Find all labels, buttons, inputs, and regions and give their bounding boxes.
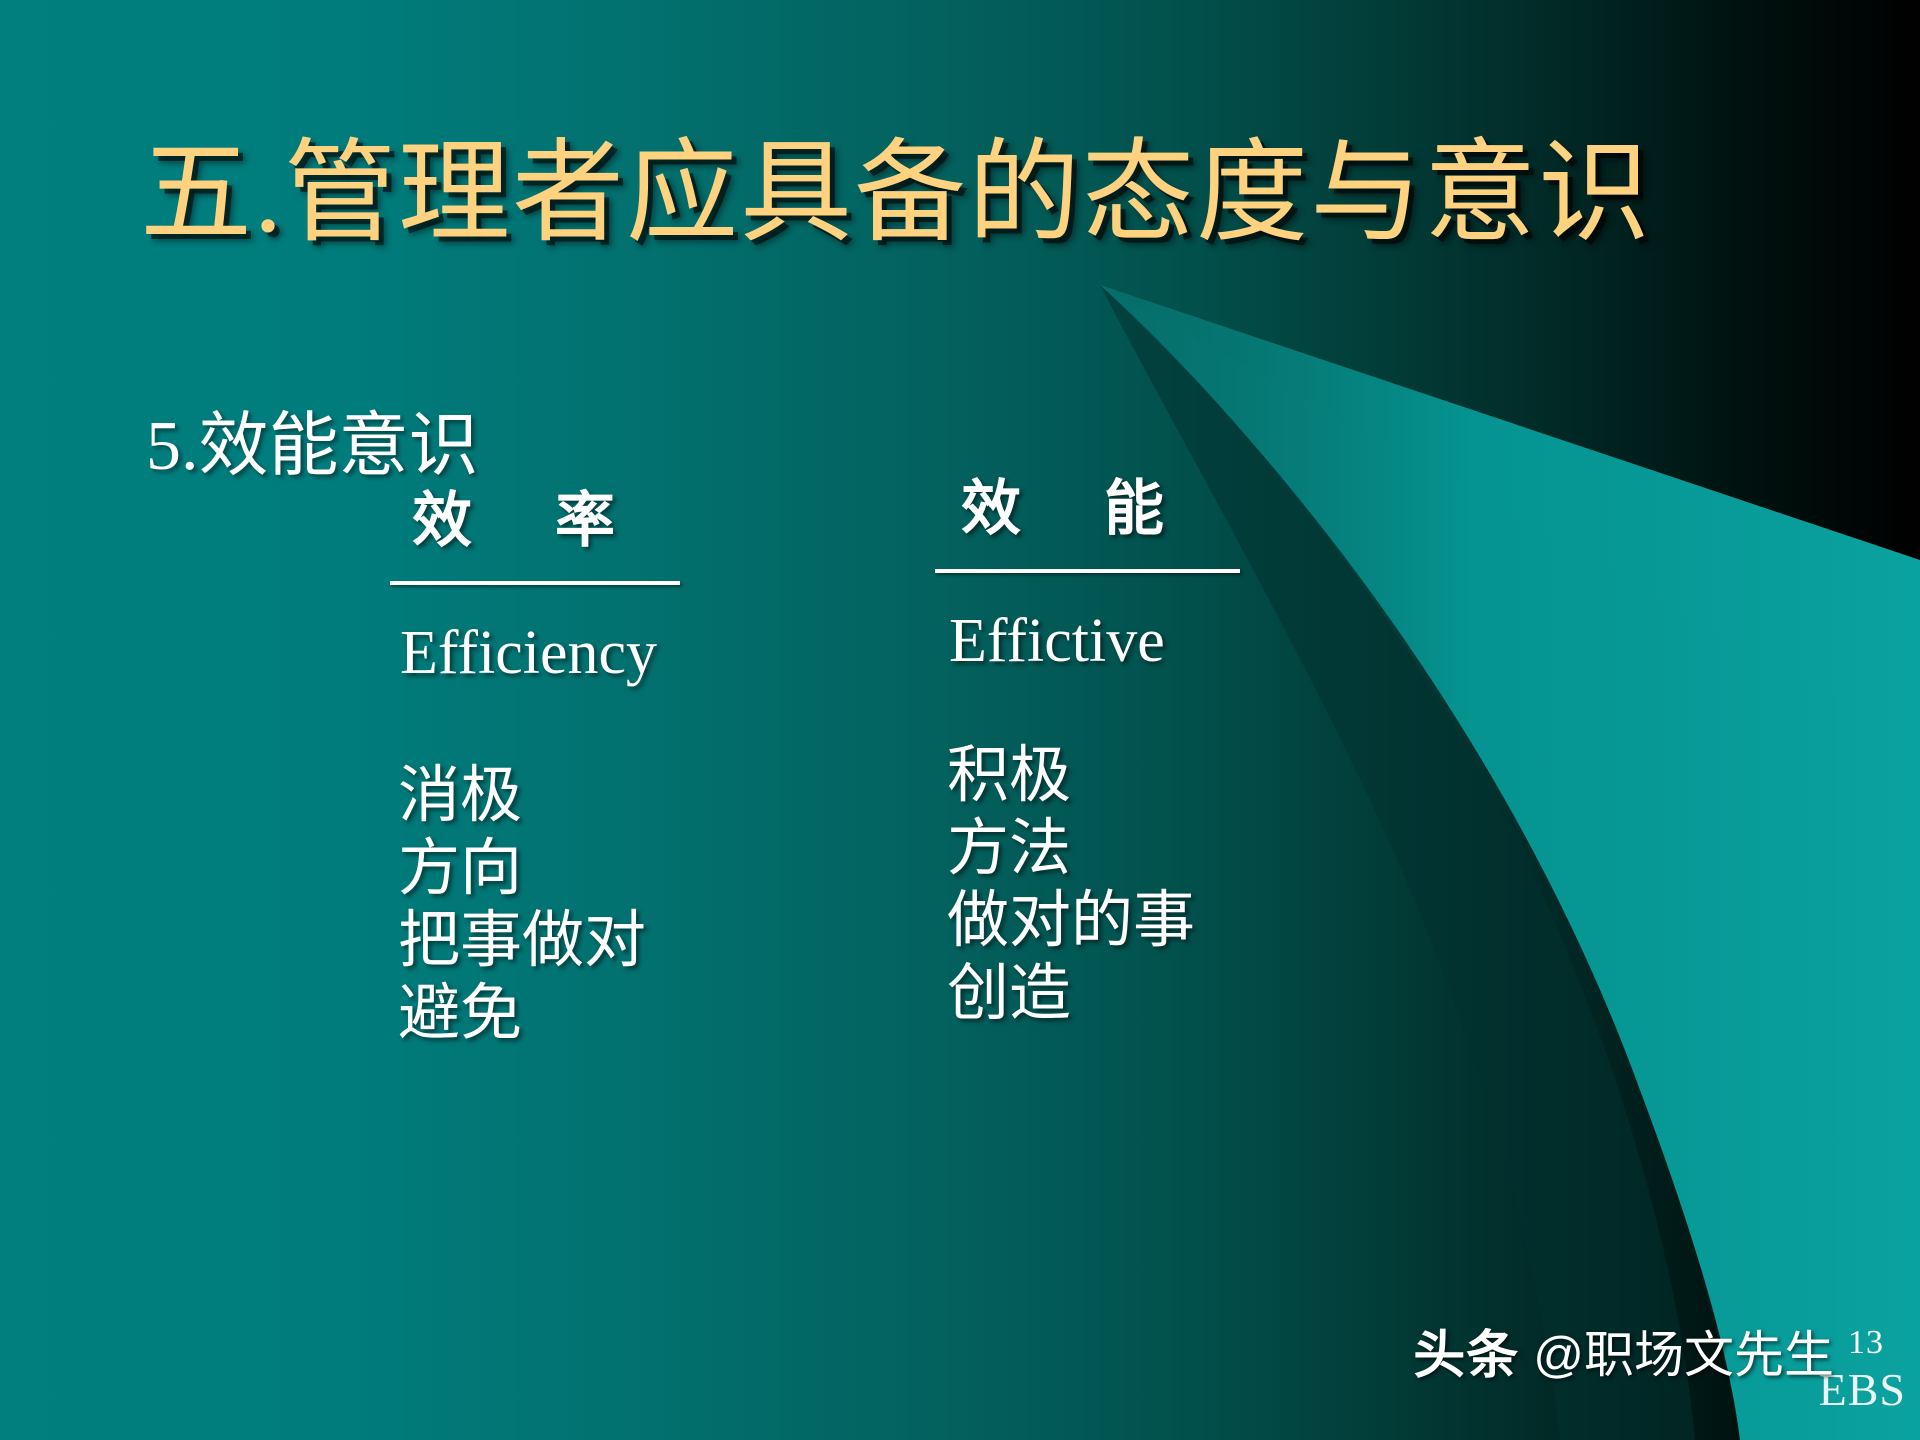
watermark-handle: @职场文先生	[1533, 1315, 1834, 1387]
list-item: 创造	[947, 958, 1455, 1031]
list-item: 积极	[947, 740, 1455, 813]
comparison-column-effective: 效 能 Effictive 积极 方法 做对的事 创造	[935, 460, 1455, 1030]
slide-canvas: 五.管理者应具备的态度与意识 5.效能意识 效 率 Efficiency 消极 …	[0, 0, 1920, 1440]
list-item: 消极	[398, 760, 910, 833]
column-heading-efficiency: 效 率	[390, 472, 910, 559]
column-english-efficiency: Efficiency	[400, 621, 910, 686]
list-item: 把事做对	[398, 905, 910, 978]
column-english-effective: Effictive	[949, 609, 1455, 674]
watermark: 头条 @职场文先生	[1413, 1313, 1834, 1388]
column-list-efficiency: 消极 方向 把事做对 避免	[398, 760, 910, 1050]
column-list-effective: 积极 方法 做对的事 创造	[947, 740, 1455, 1030]
list-item: 避免	[398, 978, 910, 1051]
watermark-brand: 头条	[1413, 1313, 1519, 1388]
list-item: 做对的事	[947, 885, 1455, 958]
comparison-column-efficiency: 效 率 Efficiency 消极 方向 把事做对 避免	[390, 472, 910, 1050]
column-heading-effective: 效 能	[935, 460, 1455, 547]
column-divider-effective	[935, 569, 1240, 573]
list-item: 方向	[398, 833, 910, 906]
list-item: 方法	[947, 813, 1455, 886]
column-divider-efficiency	[390, 581, 680, 585]
page-number: 13	[1848, 1324, 1884, 1362]
slide-title: 五.管理者应具备的态度与意识	[140, 128, 1652, 260]
